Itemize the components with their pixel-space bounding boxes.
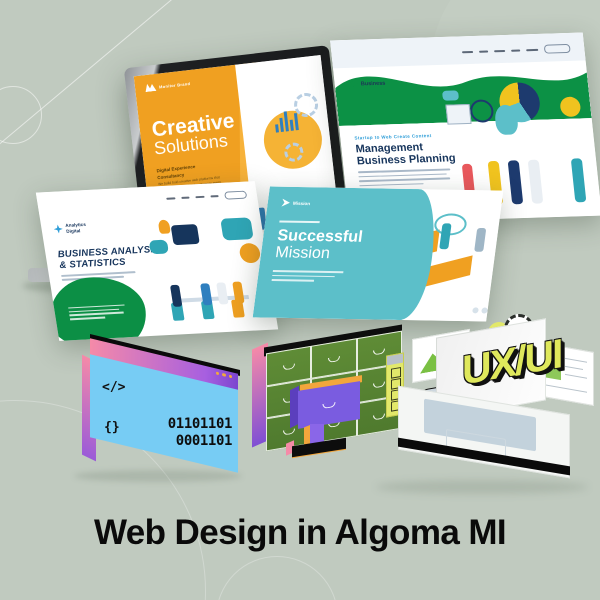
sm-heading: Successful Mission [274, 228, 363, 263]
bas-play-bubble [149, 240, 169, 255]
sm-figure-2 [439, 223, 451, 249]
creative-logo-mark [145, 83, 157, 92]
bas-logo: Analytics Digital [53, 222, 87, 235]
card-successful-mission: Mission Successful Mission [253, 187, 504, 322]
code-window: </> {} 01101101 0001101 [82, 356, 238, 466]
bas-figure-3 [216, 282, 228, 304]
sm-logo-text: Mission [293, 200, 311, 205]
decor-small-ring [0, 86, 42, 144]
mbp-figure-5 [571, 158, 587, 202]
uxui-laptop: UX/UI [384, 312, 590, 490]
bas-blob-text [68, 304, 127, 322]
mbp-chat-bubble-icon [442, 90, 459, 100]
move-tool-icon[interactable] [391, 367, 401, 379]
bas-bulb-icon [158, 220, 171, 234]
window-dot-1[interactable] [216, 371, 219, 375]
poster-canvas: Monitor Brand Creative Solutions Digital… [0, 0, 600, 600]
sm-inner: Mission Successful Mission [253, 187, 504, 322]
toolbar-panel-header [387, 354, 403, 366]
bas-chart-bubble [171, 224, 200, 245]
decor-bottom-ring [216, 556, 338, 600]
mbp-paragraph [358, 168, 452, 189]
mbp-coin-icon [559, 96, 581, 117]
file-cabinet [252, 338, 402, 464]
uxui-label: UX/UI [462, 331, 582, 426]
sm-teal-panel: Mission Successful Mission [253, 187, 420, 320]
sm-logo: Mission [281, 199, 310, 207]
sm-paragraph [271, 270, 343, 285]
mbp-logo-text: Business [361, 80, 386, 87]
mbp-clock-icon [469, 99, 494, 123]
code-window-titlebar-dots[interactable] [216, 371, 232, 378]
binary-line-2: 0001101 [168, 433, 232, 450]
card-business-analysis-statistics: Analytics Digital BUSINESS ANALYSIS & ST… [36, 181, 278, 341]
sm-figure-3 [474, 228, 486, 252]
window-dot-2[interactable] [222, 373, 225, 377]
sm-heading-line1: Successful [276, 227, 363, 245]
bas-inner: Analytics Digital BUSINESS ANALYSIS & ST… [36, 181, 278, 341]
code-binary-text: 01101101 0001101 [168, 416, 232, 449]
code-window-shadow [74, 470, 242, 482]
sm-logo-arrow-icon [281, 199, 290, 207]
mbp-document-icon [445, 104, 471, 125]
window-dot-3[interactable] [229, 375, 232, 379]
bas-gear-circle [238, 243, 261, 264]
bas-heading-line2: & STATISTICS [59, 257, 127, 271]
code-tag-icon: </> [102, 380, 125, 395]
bas-nav-search[interactable] [224, 191, 247, 200]
bas-logo-line1: Analytics [65, 222, 86, 228]
bas-logo-sparkle-icon [53, 224, 63, 233]
page-title: Web Design in Algoma MI [0, 513, 600, 553]
bas-logo-text: Analytics Digital [65, 222, 87, 234]
creative-bar-chart [274, 108, 299, 132]
binary-line-1: 01101101 [168, 416, 232, 433]
mbp-logo: Business [348, 79, 385, 89]
mbp-figure-3 [508, 160, 524, 204]
mbp-figure-4 [528, 160, 544, 204]
bas-logo-line2: Digital [66, 228, 81, 234]
mbp-nav-search[interactable] [544, 44, 571, 54]
mbp-logo-arrow-icon [348, 80, 358, 89]
sm-heading-line2: Mission [274, 245, 361, 263]
bas-chat-bubble-1 [220, 217, 254, 240]
sm-heading-rule [279, 220, 319, 222]
code-brace-icon: {} [104, 420, 120, 435]
cabinet-open-drawer[interactable] [298, 384, 364, 426]
